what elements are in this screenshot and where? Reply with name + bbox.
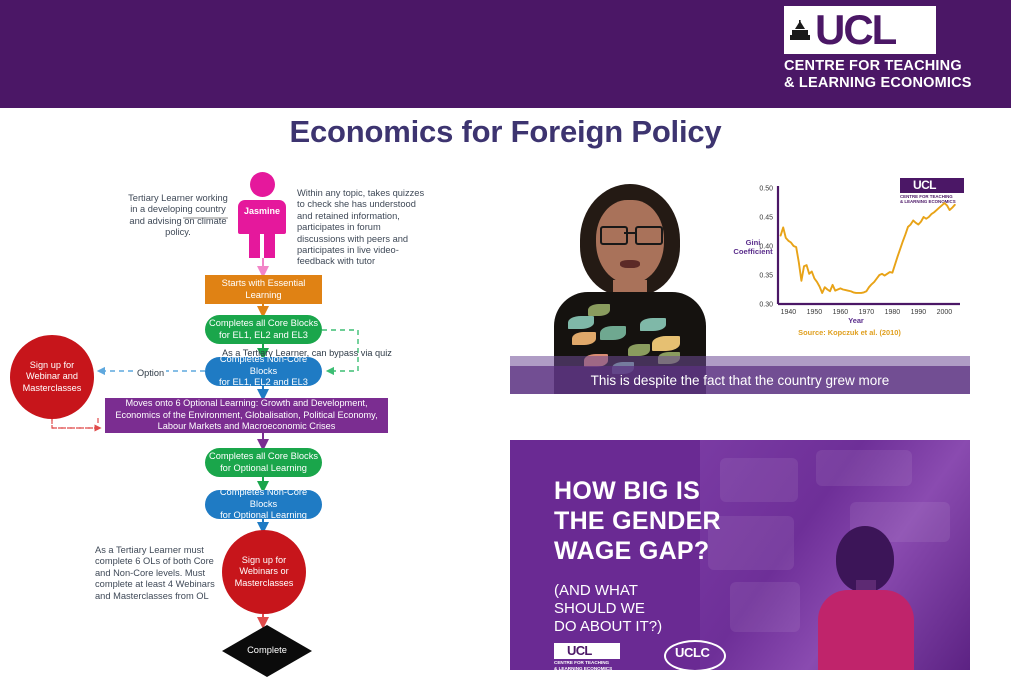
flow-node-optional-line1: Moves onto 6 Optional Learning: Growth a… <box>115 398 377 410</box>
svg-text:2000: 2000 <box>937 309 953 316</box>
flow-node-signup1-line2: Webinar and <box>23 371 82 383</box>
svg-text:1940: 1940 <box>781 309 797 316</box>
floral-leaf <box>652 336 680 351</box>
gender-panel-title-line2: THE GENDER <box>554 506 721 536</box>
ucl-dome-icon <box>789 20 811 42</box>
presenter-figure <box>540 176 720 386</box>
floral-leaf <box>572 332 596 345</box>
photo-person <box>808 520 928 670</box>
persona-avatar-icon: Jasmine <box>234 172 290 257</box>
flow-node-signup2-line3: Masterclasses <box>235 578 294 590</box>
gender-wage-gap-panel[interactable]: HOW BIG IS THE GENDER WAGE GAP? (AND WHA… <box>510 440 970 670</box>
uclc-wordmark: UCLC <box>675 645 710 660</box>
flow-node-noncore-blocks-el[interactable]: Completes Non-Core Blocks for EL1, EL2 a… <box>205 357 322 386</box>
photo-shape <box>730 582 800 632</box>
chart-plot-area: 0.300.350.400.450.5019401950196019701980… <box>732 180 964 320</box>
flow-node-noncore-blocks-ol[interactable]: Completes Non-Core Blocks for Optional L… <box>205 490 322 519</box>
ucl-subtitle-line1: CENTRE FOR TEACHING <box>784 58 1003 75</box>
flow-node-signup1-line3: Masterclasses <box>23 383 82 395</box>
ucl-subtitle-line2: & LEARNING ECONOMICS <box>784 75 1003 92</box>
gender-panel-title-line1: HOW BIG IS <box>554 476 721 506</box>
gender-panel-subtitle: (AND WHAT SHOULD WE DO ABOUT IT?) <box>554 582 662 636</box>
photo-shape <box>816 450 912 486</box>
video-caption-text: This is despite the fact that the countr… <box>591 373 890 388</box>
avatar-head <box>250 172 275 197</box>
floral-leaf <box>568 316 594 329</box>
panel-background-photo <box>700 440 970 670</box>
floral-leaf <box>588 304 610 316</box>
ucl-subtitle: CENTRE FOR TEACHING & LEARNING ECONOMICS <box>784 58 1003 92</box>
presenter-glasses-left <box>600 226 628 245</box>
presenter-mouth <box>620 260 640 268</box>
flow-node-optional-line3: Labour Markets and Macroeconomic Crises <box>115 421 377 433</box>
avatar-leg-right <box>264 232 275 258</box>
svg-text:0.30: 0.30 <box>759 302 773 309</box>
floral-leaf <box>640 318 666 331</box>
ucl-wordmark: UCL <box>815 8 895 52</box>
note-tertiary-requirements: As a Tertiary Learner must complete 6 OL… <box>95 545 217 602</box>
flow-node-start[interactable]: Starts with Essential Learning <box>205 275 322 304</box>
video-caption: This is despite the fact that the countr… <box>510 366 970 394</box>
caption-backdrop <box>510 356 970 366</box>
label-option: Option <box>135 368 166 378</box>
gender-panel-ucl-subtitle-line2: & LEARNING ECONOMICS <box>554 666 650 670</box>
learner-journey-flowchart: Jasmine Tertiary Learner working in a de… <box>0 160 500 680</box>
header-bar: UCL CENTRE FOR TEACHING & LEARNING ECONO… <box>0 0 1011 108</box>
svg-text:1980: 1980 <box>885 309 901 316</box>
gini-coefficient-chart: UCL CENTRE FOR TEACHING & LEARNING ECONO… <box>732 180 964 340</box>
presenter-glasses-bridge <box>624 232 635 234</box>
note-activity-description: Within any topic, takes quizzes to check… <box>297 188 429 268</box>
note-persona-description: Tertiary Learner working in a developing… <box>125 193 231 239</box>
gender-panel-subtitle-line2: SHOULD WE <box>554 600 662 618</box>
flow-node-noncore-blocks-el-line2: for EL1, EL2 and EL3 <box>205 377 322 389</box>
flow-node-core-blocks-ol-line2: for Optional Learning <box>209 463 318 475</box>
avatar-leg-left <box>249 232 260 258</box>
gender-panel-subtitle-line3: DO ABOUT IT?) <box>554 618 662 636</box>
svg-text:0.40: 0.40 <box>759 244 773 251</box>
photo-person-body <box>818 590 914 670</box>
floral-leaf <box>628 344 650 356</box>
presenter-glasses-right <box>635 226 663 245</box>
flow-node-core-blocks-el-line2: for EL1, EL2 and EL3 <box>209 330 318 342</box>
flow-node-core-blocks-el[interactable]: Completes all Core Blocks for EL1, EL2 a… <box>205 315 322 344</box>
page-title: Economics for Foreign Policy <box>0 114 1011 150</box>
svg-text:1960: 1960 <box>833 309 849 316</box>
uclc-logo: UCLC Creating citizenship <box>664 640 728 670</box>
gender-panel-logos: UCL CENTRE FOR TEACHING & LEARNING ECONO… <box>554 643 754 670</box>
flow-node-core-blocks-el-line1: Completes all Core Blocks <box>209 318 318 330</box>
flow-node-complete-label: Complete <box>247 645 287 657</box>
flow-node-core-blocks-ol[interactable]: Completes all Core Blocks for Optional L… <box>205 448 322 477</box>
flow-node-signup-webinar-masterclasses[interactable]: Sign up for Webinar and Masterclasses <box>10 335 94 419</box>
slide-root: UCL CENTRE FOR TEACHING & LEARNING ECONO… <box>0 0 1011 694</box>
flow-node-signup2-line1: Sign up for <box>235 555 294 567</box>
gender-panel-title-line3: WAGE GAP? <box>554 536 721 566</box>
gender-panel-subtitle-line1: (AND WHAT <box>554 582 662 600</box>
flow-node-optional-learning[interactable]: Moves onto 6 Optional Learning: Growth a… <box>105 398 388 433</box>
svg-text:0.35: 0.35 <box>759 273 773 280</box>
flow-node-optional-line2: Economics of the Environment, Globalisat… <box>115 410 377 422</box>
svg-text:1950: 1950 <box>807 309 823 316</box>
gender-panel-ucl-wordmark: UCL <box>567 643 592 659</box>
svg-text:1990: 1990 <box>911 309 927 316</box>
video-thumbnail-panel[interactable]: UCL CENTRE FOR TEACHING & LEARNING ECONO… <box>510 166 970 394</box>
gender-panel-title: HOW BIG IS THE GENDER WAGE GAP? <box>554 476 721 566</box>
flow-node-noncore-blocks-ol-line1: Completes Non-Core Blocks <box>205 487 322 510</box>
flow-node-noncore-blocks-ol-line2: for Optional Learning <box>205 510 322 522</box>
flow-node-core-blocks-ol-line1: Completes all Core Blocks <box>209 451 318 463</box>
ucl-logo: UCL CENTRE FOR TEACHING & LEARNING ECONO… <box>781 6 1003 102</box>
persona-name: Jasmine <box>234 206 290 216</box>
chart-source-note: Source: Kopczuk et al. (2010) <box>742 328 957 337</box>
flow-node-signup1-line1: Sign up for <box>23 360 82 372</box>
svg-text:0.50: 0.50 <box>759 186 773 193</box>
svg-text:1970: 1970 <box>859 309 875 316</box>
photo-shape <box>720 458 798 502</box>
chart-x-axis-label: Year <box>776 316 936 325</box>
flow-node-signup2-line2: Webinars or <box>235 566 294 578</box>
flow-node-noncore-blocks-el-line1: Completes Non-Core Blocks <box>205 354 322 377</box>
floral-leaf <box>600 326 626 340</box>
flow-node-signup-webinars-or-masterclasses[interactable]: Sign up for Webinars or Masterclasses <box>222 530 306 614</box>
svg-text:0.45: 0.45 <box>759 215 773 222</box>
gender-panel-ucl-subtitle: CENTRE FOR TEACHING & LEARNING ECONOMICS <box>554 660 650 670</box>
flow-node-start-label: Starts with Essential Learning <box>205 278 322 301</box>
